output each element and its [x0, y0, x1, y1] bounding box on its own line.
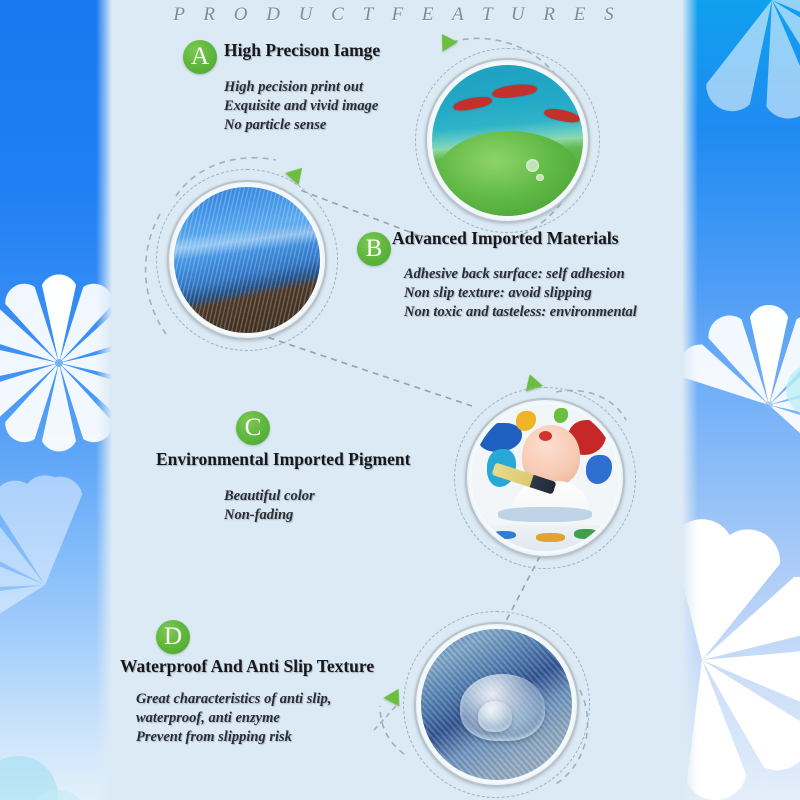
feature-heading-a: High Precison Iamge [224, 40, 380, 61]
feature-bullets-a: High pecision print out Exquisite and vi… [224, 78, 378, 135]
baby-painting-photo [472, 405, 618, 551]
water-droplet-fabric-photo [421, 629, 572, 780]
blue-fabric-texture-photo [174, 187, 320, 333]
bullet-d-3: Prevent from slipping risk [136, 728, 331, 747]
feature-photo-b [167, 180, 327, 340]
feature-bullets-b: Adhesive back surface: self adhesion Non… [404, 265, 637, 322]
feature-bullets-d: Great characteristics of anti slip, wate… [136, 690, 331, 747]
feature-photo-d [414, 622, 579, 787]
feature-badge-b: B [357, 232, 391, 266]
feature-heading-d: Waterproof And Anti Slip Texture [120, 656, 374, 677]
bullet-c-1: Beautiful color [224, 487, 315, 506]
koi-pond-print-photo [432, 65, 583, 216]
feature-badge-a: A [183, 40, 217, 74]
bullet-a-1: High pecision print out [224, 78, 378, 97]
feature-photo-c [465, 398, 625, 558]
bullet-a-2: Exquisite and vivid image [224, 97, 378, 116]
feature-photo-a [425, 58, 590, 223]
feature-badge-c: C [236, 411, 270, 445]
feature-heading-b: Advanced Imported Materials [392, 228, 619, 249]
connector-lines [0, 0, 800, 800]
feature-badge-d: D [156, 620, 190, 654]
feature-heading-c: Environmental Imported Pigment [156, 449, 410, 470]
bullet-b-1: Adhesive back surface: self adhesion [404, 265, 637, 284]
product-features-poster: P R O D U C T F E A T U R E S A High Pre… [0, 0, 800, 800]
bullet-a-3: No particle sense [224, 116, 378, 135]
bullet-b-2: Non slip texture: avoid slipping [404, 284, 637, 303]
bullet-d-1: Great characteristics of anti slip, [136, 690, 331, 709]
bullet-c-2: Non-fading [224, 506, 315, 525]
feature-bullets-c: Beautiful color Non-fading [224, 487, 315, 525]
bullet-d-2: waterproof, anti enzyme [136, 709, 331, 728]
bullet-b-3: Non toxic and tasteless: environmental [404, 303, 637, 322]
